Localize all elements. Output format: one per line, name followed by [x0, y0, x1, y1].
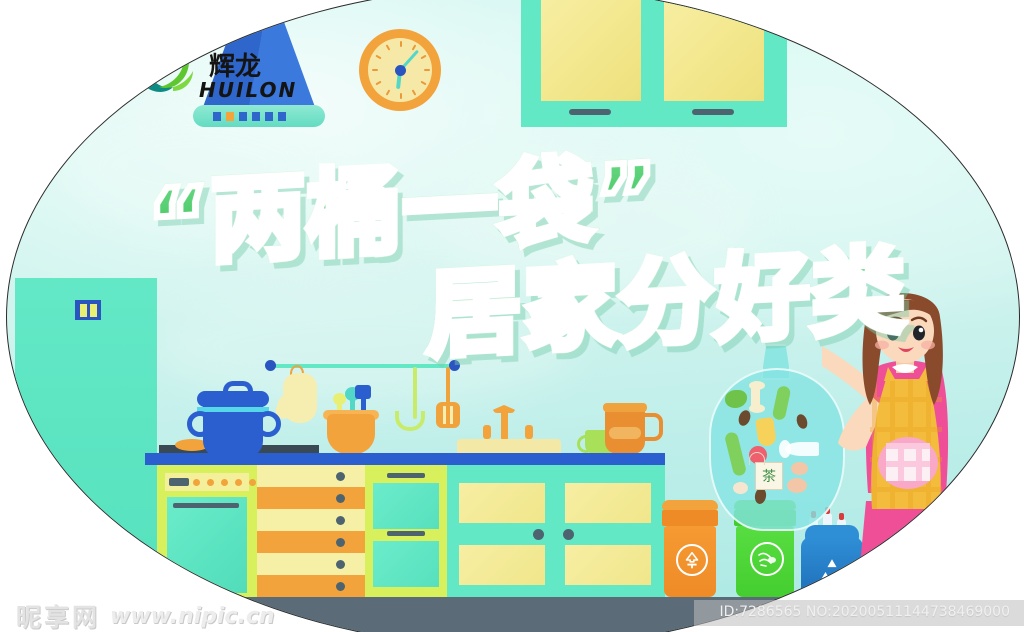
drawer[interactable] [257, 553, 365, 575]
clock-center-pin [395, 65, 406, 76]
spatula-head [436, 402, 460, 428]
range-hood-buttons[interactable] [213, 112, 286, 121]
cabinet-door-panel[interactable] [459, 545, 545, 585]
pitcher-rim [603, 403, 647, 412]
spatula-handle [446, 367, 450, 405]
kitchen-sink [457, 439, 561, 453]
scrap-tea-bag: 茶 [755, 462, 783, 490]
scrap-pea-pod [772, 385, 792, 421]
drawer-knob [336, 538, 345, 547]
cabinet-door-panel[interactable] [565, 545, 651, 585]
drawer[interactable] [257, 465, 365, 487]
oven-knob[interactable] [193, 479, 200, 486]
pot-band [197, 407, 269, 412]
hood-button[interactable] [239, 112, 247, 121]
oven-display [169, 478, 189, 486]
cabinet-handle [692, 109, 734, 115]
logo-en-text: HUILONG [199, 78, 297, 102]
cabinet-door-panel[interactable] [459, 483, 545, 523]
drawer-knob [336, 560, 345, 569]
pot-handle [255, 411, 281, 437]
oven-knob-row[interactable] [193, 479, 256, 486]
housewife-character [822, 287, 1002, 597]
drawer-knob [336, 494, 345, 503]
dragon-leaf-emblem [138, 49, 193, 92]
scrap-bone-end [749, 404, 765, 413]
hood-button[interactable] [265, 112, 273, 121]
oven-knob[interactable] [249, 479, 256, 486]
faucet-tap [483, 425, 491, 439]
drawer-stack [257, 465, 365, 597]
eye [913, 326, 925, 341]
cabinet-handle [569, 109, 611, 115]
drawer[interactable] [257, 531, 365, 553]
hood-button[interactable] [278, 112, 286, 121]
range-hood-duct [239, 0, 277, 23]
drawer[interactable] [257, 509, 365, 531]
drawer-knob [336, 582, 345, 591]
cabinet-door-panel[interactable] [373, 483, 439, 529]
scrap-bone-end [749, 381, 765, 390]
tea-bag-label: 茶 [762, 466, 776, 486]
cabinet-door-panel [664, 0, 764, 101]
light-blotch [437, 147, 757, 297]
cabinet-door-panel[interactable] [565, 483, 651, 523]
tea-bag-string [749, 452, 765, 465]
oven-knob[interactable] [221, 479, 228, 486]
eye [887, 326, 899, 341]
cabinet-knob [533, 529, 544, 540]
oven-knob[interactable] [207, 479, 214, 486]
pitcher-band [609, 427, 641, 439]
faucet-neck [501, 409, 508, 441]
fridge-handle-badge [75, 300, 101, 320]
utensil-fork-head [355, 385, 371, 399]
cabinet-door-panel[interactable] [373, 541, 439, 587]
skirt [858, 501, 954, 587]
oven-unit [157, 465, 257, 597]
clock-face [368, 38, 432, 102]
hood-button[interactable] [213, 112, 221, 121]
watermark-site-cn: 昵享网 [16, 598, 100, 632]
poster-canvas: 茶 [0, 0, 1024, 632]
rail-end-cap [265, 360, 276, 371]
cabinet-door-panel [541, 0, 641, 101]
cabinet-knob [563, 529, 574, 540]
other-waste-symbol [676, 544, 708, 576]
drawer-knob [336, 516, 345, 525]
refrigerator [15, 278, 157, 578]
scrap-egg [787, 478, 807, 493]
scrap-eggshell [733, 482, 748, 494]
oven-door-handle [173, 503, 239, 508]
counter-top [145, 453, 665, 465]
site-watermark: 昵享网 www.nipic.cn [16, 598, 275, 632]
wall-clock [359, 29, 441, 111]
hood-button[interactable] [252, 112, 260, 121]
utensil-spoon-bowl [333, 393, 346, 405]
rail-end-cap [449, 360, 460, 371]
ladle-bowl [395, 411, 425, 431]
wall-cabinet [521, 0, 787, 127]
watermark-id: ID:7286565 NO:20200511144738469000 [719, 604, 1010, 620]
scrap-egg [791, 462, 808, 475]
pot-handle [187, 411, 213, 437]
scrap-fish-head [779, 440, 791, 458]
green-base-cabinet [365, 465, 447, 597]
brand-logo[interactable]: 辉龙 HUILONG [127, 45, 297, 107]
scrap-banana-peel [755, 417, 777, 447]
faucet-tap [525, 425, 533, 439]
poster-oval: 茶 [6, 0, 1020, 632]
oven-control-panel [165, 473, 249, 491]
oven-knob[interactable] [235, 479, 242, 486]
scrap-seed [795, 413, 810, 431]
drawer-knob [336, 472, 345, 481]
hood-button-active[interactable] [226, 112, 234, 121]
cabinet-handle [387, 531, 425, 536]
poster-background: 茶 [7, 0, 1019, 632]
scrap-pea-pod [724, 431, 747, 477]
watermark-site-url: www.nipic.cn [110, 604, 275, 629]
cabinet-handle [387, 473, 425, 478]
drawer[interactable] [257, 575, 365, 597]
teal-base-cabinet [447, 465, 665, 597]
utensil-crock [327, 414, 375, 454]
food-waste-symbol [750, 542, 784, 576]
oven-door[interactable] [167, 497, 247, 593]
drawer[interactable] [257, 487, 365, 509]
scrap-cabbage-leaf [725, 390, 747, 408]
